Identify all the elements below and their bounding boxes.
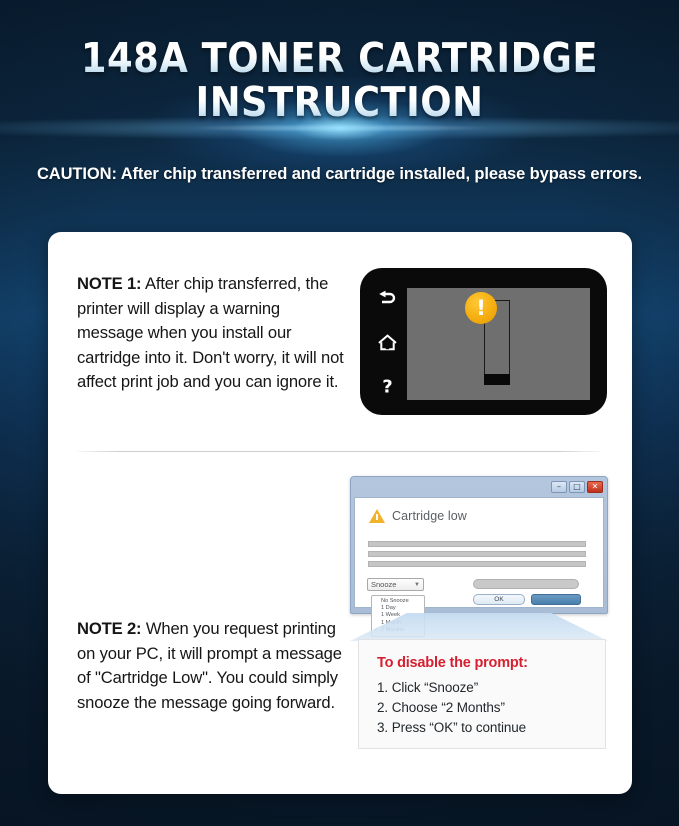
primary-action-button[interactable]	[531, 594, 581, 605]
page-title-line-2: Instruction	[34, 80, 645, 124]
caution-label: CAUTION:	[37, 165, 117, 183]
home-icon[interactable]	[378, 334, 397, 351]
chevron-down-icon: ▼	[414, 582, 420, 588]
snooze-dropdown-value: Snooze	[371, 580, 396, 589]
disable-prompt-steps: Click “Snooze”Choose “2 Months”Press “OK…	[377, 678, 587, 738]
snooze-option-label: No Snooze	[381, 598, 409, 605]
dialog-input-field[interactable]	[473, 579, 579, 589]
snooze-option[interactable]: No Snooze	[372, 598, 424, 605]
printer-control-panel: ? !	[360, 268, 607, 415]
note-2-label: NOTE 2:	[77, 619, 141, 638]
snooze-dropdown[interactable]: Snooze ▼	[367, 578, 424, 591]
placeholder-bar	[368, 561, 586, 567]
dialog-title-text: Cartridge low	[392, 509, 467, 523]
note-1-label: NOTE 1:	[77, 274, 141, 293]
warning-badge-icon: !	[465, 292, 497, 324]
disable-prompt-step: Choose “2 Months”	[377, 698, 587, 718]
disable-prompt-title: To disable the prompt:	[377, 655, 587, 671]
page-title-line-1: 148A Toner Cartridge	[34, 36, 645, 80]
printer-screen: !	[407, 288, 590, 400]
warning-triangle-icon	[369, 509, 385, 523]
svg-text:?: ?	[382, 377, 392, 396]
toner-level-fill	[484, 374, 510, 385]
close-button[interactable]: ✕	[587, 481, 603, 493]
dialog-body: Cartridge low Snooze ▼ No Snooze1 Day1 W…	[354, 497, 604, 608]
content-card: NOTE 1: After chip transferred, the prin…	[48, 232, 632, 794]
placeholder-bar	[368, 551, 586, 557]
window-controls: – □ ✕	[551, 481, 603, 493]
minimize-button[interactable]: –	[551, 481, 567, 493]
section-divider	[77, 451, 601, 452]
poster-root: 148A Toner Cartridge Instruction CAUTION…	[0, 0, 679, 826]
caution-banner: CAUTION: After chip transferred and cart…	[0, 163, 679, 186]
disable-prompt-box: To disable the prompt: Click “Snooze”Cho…	[358, 639, 606, 749]
caution-text: After chip transferred and cartridge ins…	[117, 165, 642, 183]
page-header: 148A Toner Cartridge Instruction	[0, 36, 679, 124]
snooze-option-label: 1 Day	[381, 605, 396, 612]
maximize-button[interactable]: □	[569, 481, 585, 493]
snooze-option[interactable]: 1 Day	[372, 605, 424, 612]
ok-button[interactable]: OK	[473, 594, 525, 605]
question-mark-icon[interactable]: ?	[378, 377, 397, 396]
placeholder-bar	[368, 541, 586, 547]
printer-key-column: ?	[370, 290, 404, 396]
dialog-titlebar: – □ ✕	[354, 480, 604, 497]
back-arrow-icon[interactable]	[378, 290, 397, 307]
disable-prompt-step: Press “OK” to continue	[377, 718, 587, 738]
note-1-paragraph: NOTE 1: After chip transferred, the prin…	[77, 272, 349, 395]
dialog-heading: Cartridge low	[369, 509, 467, 523]
note-2-paragraph: NOTE 2: When you request printing on you…	[77, 617, 349, 715]
cartridge-low-dialog: – □ ✕ Cartridge low Snooze ▼ No Snooze1 …	[350, 476, 608, 614]
disable-prompt-step: Click “Snooze”	[377, 678, 587, 698]
